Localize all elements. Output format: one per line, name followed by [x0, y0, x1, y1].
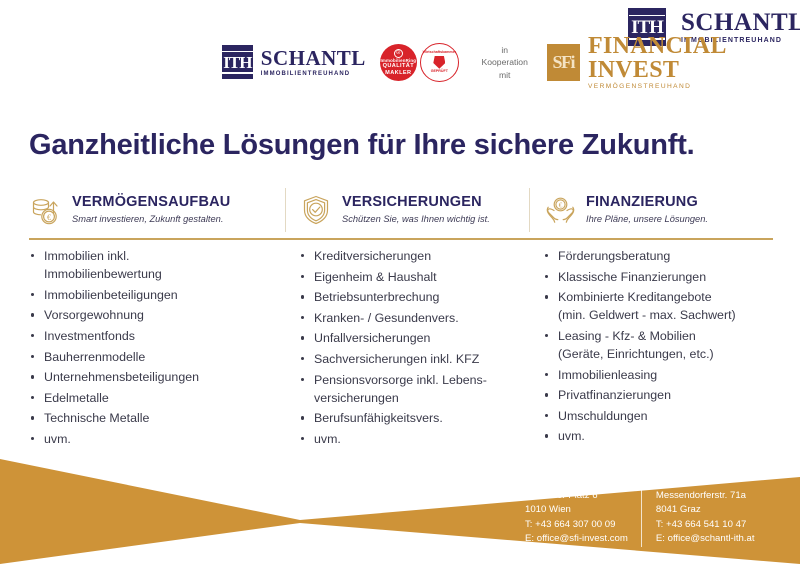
footer-banner: Office Wien: Passauer Platz 6 1010 Wien … — [0, 445, 800, 564]
list-item: Bauherrenmodelle — [29, 348, 271, 366]
office-wien: Office Wien: Passauer Platz 6 1010 Wien … — [525, 474, 641, 547]
column-tagline: Smart investieren, Zukunft gestalten. — [72, 214, 230, 224]
office-phone[interactable]: T: +43 664 307 00 09 — [525, 518, 628, 533]
service-list: Förderungsberatung Klassische Finanzieru… — [543, 247, 773, 446]
list-item-text: Kreditversicherungen — [314, 249, 431, 263]
list-item-text: Privatfinanzierungen — [558, 388, 671, 402]
seal-emblem-icon: ☉ — [394, 49, 403, 58]
seal-line1: Wirtschaftskammer — [423, 51, 456, 55]
list-item-text: Investmentfonds — [44, 329, 135, 343]
ith-wordmark: SCHANTL IMMOBILIENTREUHAND — [261, 48, 366, 77]
ith-brand-subtitle: IMMOBILIENTREUHAND — [261, 71, 366, 77]
list-item-text: Unternehmensbeteiligungen — [44, 370, 199, 384]
list-item: Technische Metalle — [29, 409, 271, 427]
footer-contact-block: Office Wien: Passauer Platz 6 1010 Wien … — [525, 474, 755, 547]
wko-seal-icon: Wirtschaftskammer GEPRÜFT — [420, 43, 459, 82]
office-street: Messendorferstr. 71a — [656, 489, 755, 504]
column-header-text: VERSICHERUNGEN Schützen Sie, was Ihnen w… — [342, 195, 490, 224]
cooperation-line-2: Kooperation — [475, 56, 535, 68]
column-finanzierung: € FINANZIERUNG Ihre Pläne, unsere Lösung… — [529, 188, 773, 451]
list-item-continuation: Immobilienbewertung — [44, 265, 271, 283]
list-item: Sachversicherungen inkl. KFZ — [299, 350, 515, 368]
sfi-monogram-text: SFi — [553, 52, 575, 73]
shield-check-icon — [299, 193, 333, 227]
list-item-text: Pensionsvorsorge inkl. Lebens- — [314, 373, 487, 387]
list-item-text: Immobilienbeteiligungen — [44, 288, 178, 302]
ith-brand-name: SCHANTL — [261, 48, 366, 69]
list-item: Leasing - Kfz- & Mobilien(Geräte, Einric… — [543, 327, 773, 363]
list-item: Kranken- / Gesundenvers. — [299, 309, 515, 327]
list-item: Klassische Finanzierungen — [543, 268, 773, 286]
list-item-text: Edelmetalle — [44, 391, 109, 405]
office-name: Office Graz: — [656, 474, 755, 489]
list-item-text: Berufsunfähigkeitsvers. — [314, 411, 443, 425]
list-item: Unfallversicherungen — [299, 329, 515, 347]
office-city: 1010 Wien — [525, 503, 628, 518]
list-item: Investmentfonds — [29, 327, 271, 345]
list-item: Unternehmensbeteiligungen — [29, 368, 271, 386]
office-street: Passauer Platz 6 — [525, 489, 628, 504]
column-title: VERMÖGENSAUFBAU — [72, 195, 230, 211]
sfi-monogram-icon: SFi — [547, 44, 580, 81]
office-name: Office Wien: — [525, 474, 628, 489]
list-item: Kombinierte Kreditangebote(min. Geldwert… — [543, 288, 773, 324]
list-item: Immobilienbeteiligungen — [29, 286, 271, 304]
ith-monogram-icon: ITH — [222, 45, 253, 79]
cooperation-line-3: mit — [475, 69, 535, 81]
list-item: Pensionsvorsorge inkl. Lebens-versicheru… — [299, 371, 515, 407]
hands-holding-coin-icon: € — [543, 193, 577, 227]
cooperation-note: in Kooperation mit — [475, 44, 535, 81]
list-item-text: Förderungsberatung — [558, 249, 670, 263]
sfi-brand-subtitle: VERMÖGENSTREUHAND — [588, 84, 800, 91]
logo-partner-row: ITH SCHANTL IMMOBILIENTREUHAND ☉ Immobil… — [222, 34, 800, 91]
list-item: Förderungsberatung — [543, 247, 773, 265]
list-item: Immobilien inkl.Immobilienbewertung — [29, 247, 271, 283]
coins-euro-growth-icon: € — [29, 193, 63, 227]
list-item-text: Klassische Finanzierungen — [558, 270, 706, 284]
office-phone[interactable]: T: +43 664 541 10 47 — [656, 518, 755, 533]
list-item-text: uvm. — [558, 429, 585, 443]
seal-line2: QUALITÄT — [383, 64, 414, 70]
seal-line3: GEPRÜFT — [431, 70, 448, 74]
list-item: Vorsorgewohnung — [29, 306, 271, 324]
svg-text:€: € — [47, 213, 51, 222]
list-item: Immobilienleasing — [543, 366, 773, 384]
sfi-wordmark: FINANCIAL INVEST VERMÖGENSTREUHAND — [588, 34, 800, 91]
list-item-text: Leasing - Kfz- & Mobilien — [558, 329, 696, 343]
list-item: uvm. — [543, 427, 773, 445]
list-item: Eigenheim & Haushalt — [299, 268, 515, 286]
list-item-text: Bauherrenmodelle — [44, 350, 145, 364]
column-header: € FINANZIERUNG Ihre Pläne, unsere Lösung… — [543, 188, 773, 232]
list-item: Edelmetalle — [29, 389, 271, 407]
column-vermoegensaufbau: € VERMÖGENSAUFBAU Smart investieren, Zuk… — [29, 188, 285, 451]
column-header-text: FINANZIERUNG Ihre Pläne, unsere Lösungen… — [586, 195, 708, 224]
office-city: 8041 Graz — [656, 503, 755, 518]
list-item-text: uvm. — [314, 432, 341, 446]
list-item-continuation: (min. Geldwert - max. Sachwert) — [558, 306, 773, 324]
list-item-text: Technische Metalle — [44, 411, 149, 425]
list-item-text: uvm. — [44, 432, 71, 446]
list-item: Umschuldungen — [543, 407, 773, 425]
ith-monogram-text: ITH — [223, 54, 251, 71]
list-item: Berufsunfähigkeitsvers. — [299, 409, 515, 427]
header-logo-bar: ITH SCHANTL IMMOBILIENTREUHAND ITH SCHAN… — [0, 0, 800, 108]
page-headline: Ganzheitliche Lösungen für Ihre sichere … — [29, 129, 695, 162]
service-list: Immobilien inkl.Immobilienbewertung Immo… — [29, 247, 271, 448]
list-item: Betriebsunterbrechung — [299, 288, 515, 306]
column-tagline: Ihre Pläne, unsere Lösungen. — [586, 214, 708, 224]
service-columns: € VERMÖGENSAUFBAU Smart investieren, Zuk… — [29, 188, 773, 451]
office-graz: Office Graz: Messendorferstr. 71a 8041 G… — [641, 474, 755, 547]
list-item-text: Kombinierte Kreditangebote — [558, 290, 712, 304]
column-header: € VERMÖGENSAUFBAU Smart investieren, Zuk… — [29, 188, 271, 232]
svg-text:€: € — [559, 202, 563, 210]
column-header-text: VERMÖGENSAUFBAU Smart investieren, Zukun… — [72, 195, 230, 224]
cooperation-line-1: in — [475, 44, 535, 56]
column-title: VERSICHERUNGEN — [342, 195, 490, 211]
certification-seals: ☉ ImmobilienRing QUALITÄT MAKLER Wirtsch… — [380, 43, 459, 82]
list-item: Privatfinanzierungen — [543, 386, 773, 404]
sfi-brand-name: FINANCIAL INVEST — [588, 34, 800, 82]
column-versicherungen: VERSICHERUNGEN Schützen Sie, was Ihnen w… — [285, 188, 529, 451]
list-item-text: Betriebsunterbrechung — [314, 290, 439, 304]
austria-crest-icon — [433, 56, 445, 69]
list-item-text: Immobilien inkl. — [44, 249, 129, 263]
list-item-text: Sachversicherungen inkl. KFZ — [314, 352, 479, 366]
logo-sfi-financial-invest: SFi FINANCIAL INVEST VERMÖGENSTREUHAND — [547, 34, 800, 91]
qualitaets-makler-seal-icon: ☉ ImmobilienRing QUALITÄT MAKLER — [380, 44, 417, 81]
list-item-text: Unfallversicherungen — [314, 331, 430, 345]
ith-brand-name: SCHANTL — [681, 10, 800, 35]
column-tagline: Schützen Sie, was Ihnen wichtig ist. — [342, 214, 490, 224]
list-item-text: Kranken- / Gesundenvers. — [314, 311, 459, 325]
service-list: Kreditversicherungen Eigenheim & Haushal… — [299, 247, 515, 448]
list-item-text: Vorsorgewohnung — [44, 308, 144, 322]
list-item: Kreditversicherungen — [299, 247, 515, 265]
seal-line3: MAKLER — [385, 71, 411, 77]
list-item-continuation: (Geräte, Einrichtungen, etc.) — [558, 345, 773, 363]
list-item-text: Immobilienleasing — [558, 368, 657, 382]
column-header: VERSICHERUNGEN Schützen Sie, was Ihnen w… — [299, 188, 515, 232]
office-email[interactable]: E: office@sfi-invest.com — [525, 532, 628, 547]
list-item-text: Eigenheim & Haushalt — [314, 270, 437, 284]
office-email[interactable]: E: office@schantl-ith.at — [656, 532, 755, 547]
list-item-continuation: versicherungen — [314, 389, 515, 407]
column-title: FINANZIERUNG — [586, 195, 708, 211]
list-item-text: Umschuldungen — [558, 409, 648, 423]
